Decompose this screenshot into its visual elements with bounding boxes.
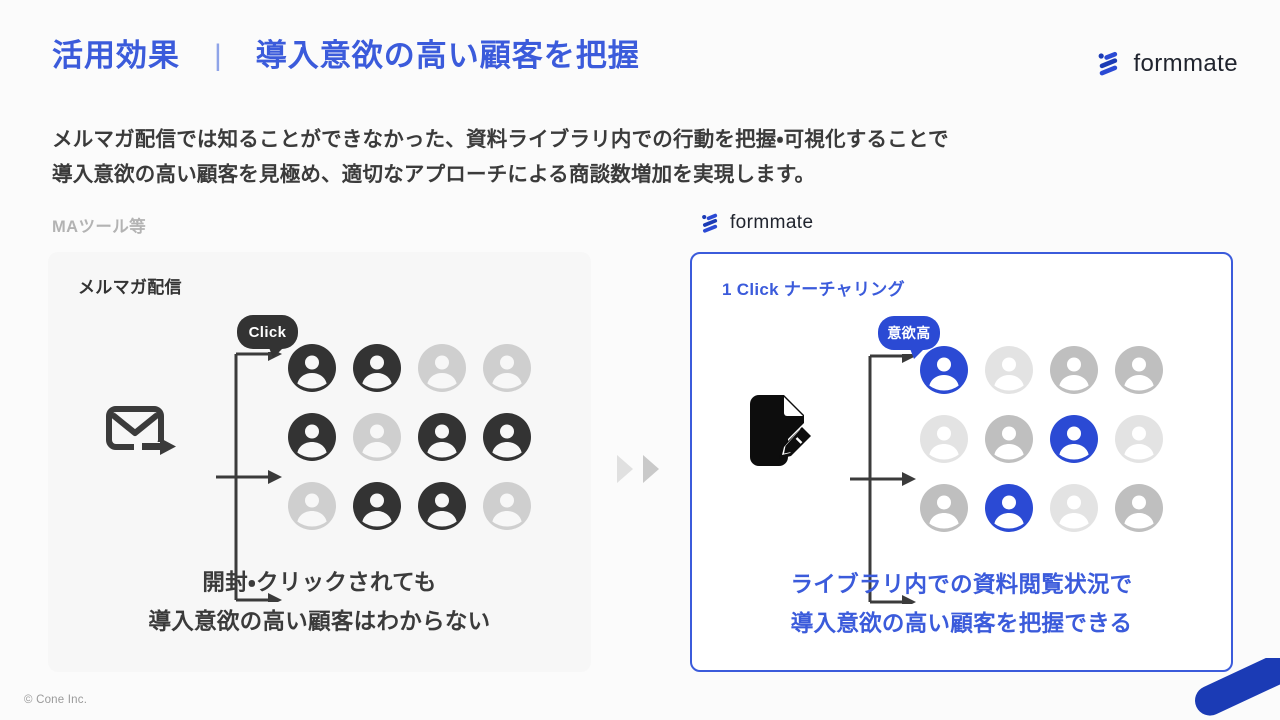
avatar <box>985 484 1050 553</box>
column-caption-right: formmate <box>700 212 813 234</box>
intent-high-bubble: 意欲高 <box>878 316 940 350</box>
lead-line-1: メルマガ配信では知ることができなかった、資料ライブラリ内での行動を把握・可視化す… <box>52 122 949 157</box>
brand-logo: formmate <box>1096 50 1238 78</box>
card-left-footnote: 開封・クリックされても 導入意欲の高い顧客はわからない <box>48 564 591 641</box>
lead-line-2: 導入意欲の高い顧客を見極め、適切なアプローチによる商談数増加を実現します。 <box>52 157 949 192</box>
title-separator: | <box>214 41 222 71</box>
column-caption-left: MAツール等 <box>52 213 146 237</box>
avatar <box>288 344 353 413</box>
lead-paragraph: メルマガ配信では知ることができなかった、資料ライブラリ内での行動を把握・可視化す… <box>52 122 949 193</box>
envelope-send-icon <box>106 400 180 463</box>
avatar <box>1050 415 1115 484</box>
avatar <box>920 415 985 484</box>
avatar <box>985 415 1050 484</box>
click-bubble-label: Click <box>249 324 287 341</box>
card-left-title: メルマガ配信 <box>78 273 182 298</box>
double-chevron-right-icon <box>614 452 662 486</box>
page-title: 活用効果 | 導入意欲の高い顧客を把握 <box>52 40 640 71</box>
card-right-footnote: ライブラリ内での資料閲覧状況で 導入意欲の高い顧客を把握できる <box>692 566 1231 643</box>
copyright-text: © Cone Inc. <box>24 694 87 706</box>
formmate-logo-icon <box>1096 51 1122 77</box>
avatar-grid-left <box>288 344 548 551</box>
slide-root: 活用効果 | 導入意欲の高い顧客を把握 formmate メルマガ配信では知るこ… <box>0 0 1280 720</box>
avatar <box>1050 346 1115 415</box>
avatar <box>418 344 483 413</box>
brand-name: formmate <box>1133 50 1238 78</box>
card-right-foot-line-2: 導入意欲の高い顧客を把握できる <box>692 605 1231 644</box>
avatar <box>418 482 483 551</box>
avatar <box>1050 484 1115 553</box>
card-right-title: 1 Click ナーチャリング <box>722 275 905 300</box>
intent-high-bubble-label: 意欲高 <box>887 323 930 343</box>
card-left-foot-line-1: 開封・クリックされても <box>48 564 591 603</box>
card-ma-tool: メルマガ配信 Click <box>48 252 591 672</box>
card-formmate: 1 Click ナーチャリング <box>690 252 1233 672</box>
avatar <box>920 346 985 415</box>
avatar <box>418 413 483 482</box>
avatar-grid-right <box>920 346 1180 553</box>
avatar <box>1115 415 1180 484</box>
avatar <box>483 413 548 482</box>
avatar <box>288 482 353 551</box>
avatar <box>1115 346 1180 415</box>
title-primary: 活用効果 <box>52 40 180 71</box>
avatar <box>353 482 418 551</box>
avatar <box>483 344 548 413</box>
avatar <box>920 484 985 553</box>
avatar <box>483 482 548 551</box>
avatar <box>353 413 418 482</box>
column-caption-right-label: formmate <box>730 212 813 234</box>
formmate-logo-icon <box>700 213 721 234</box>
card-left-foot-line-2: 導入意欲の高い顧客はわからない <box>48 603 591 642</box>
card-right-foot-line-1: ライブラリ内での資料閲覧状況で <box>692 566 1231 605</box>
avatar <box>1115 484 1180 553</box>
avatar <box>985 346 1050 415</box>
title-secondary: 導入意欲の高い顧客を把握 <box>256 40 640 71</box>
document-edit-icon <box>740 394 820 471</box>
avatar <box>353 344 418 413</box>
avatar <box>288 413 353 482</box>
